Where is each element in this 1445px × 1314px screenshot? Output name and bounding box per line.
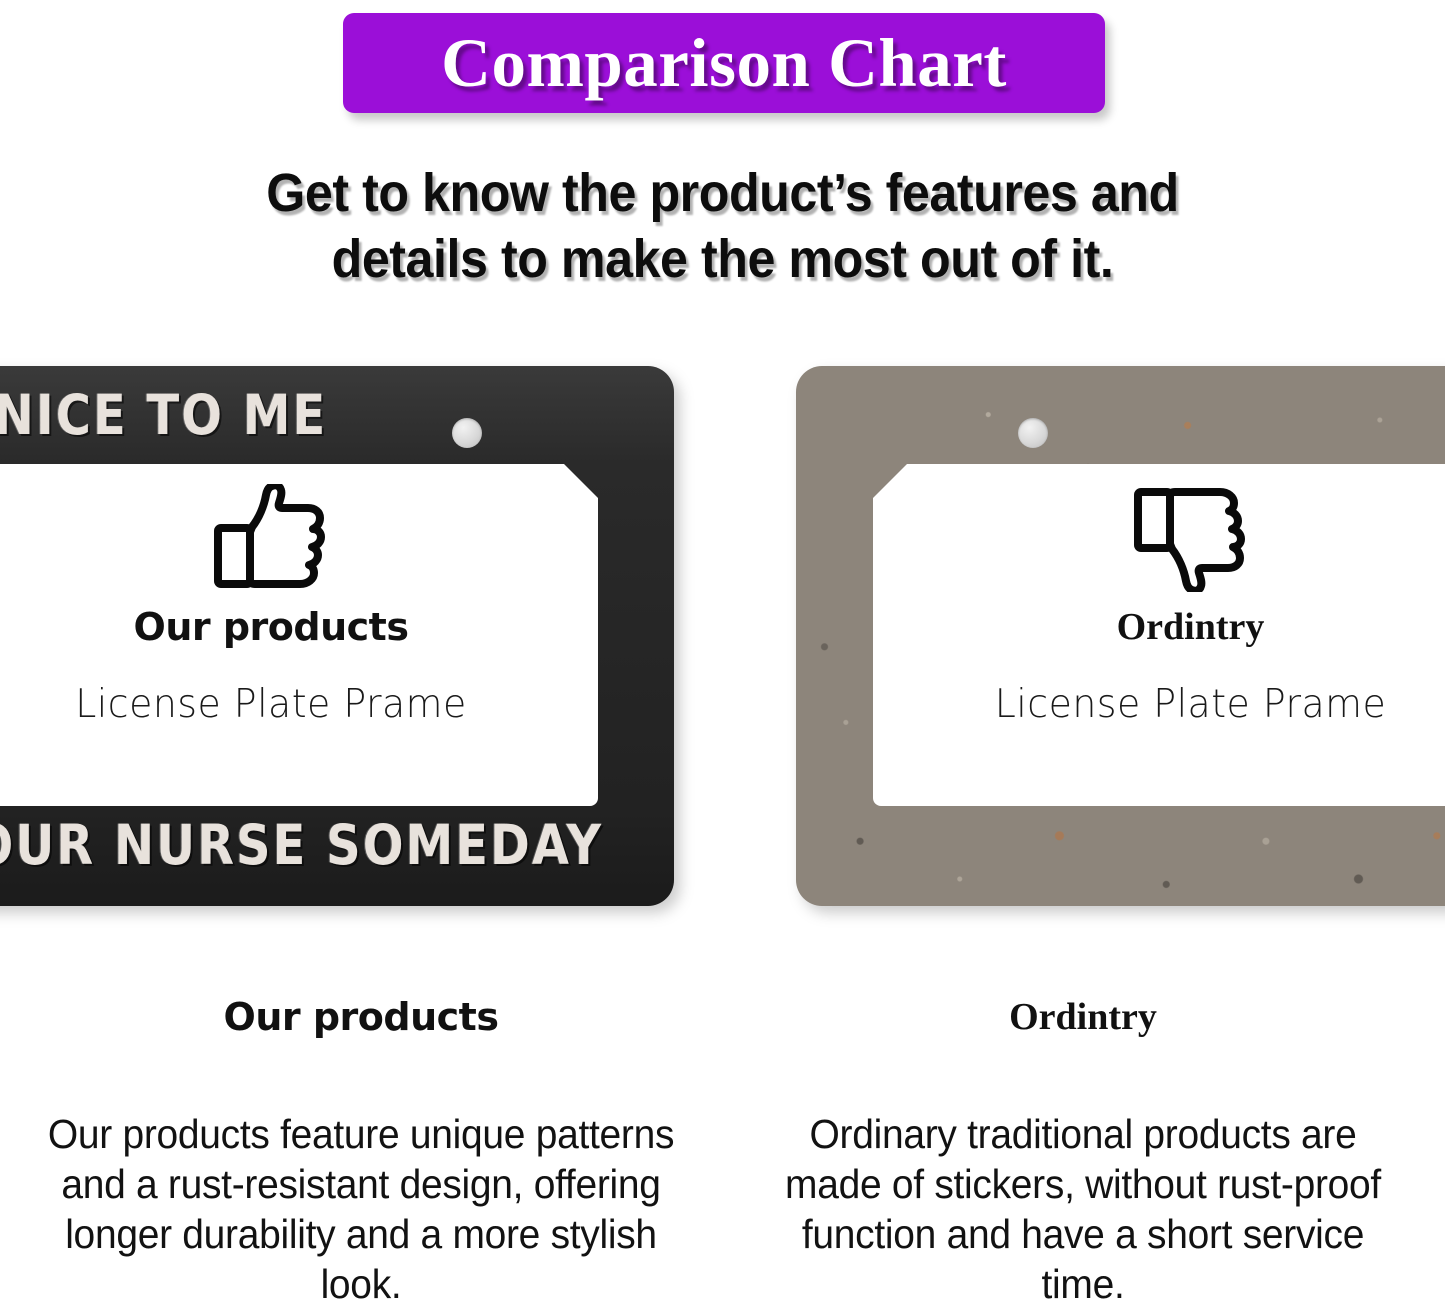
description-columns: Our products Our products feature unique… — [0, 995, 1445, 1309]
frame-product-label-ordinary: License Plate Prame — [883, 682, 1445, 727]
banner-background: Comparison Chart — [343, 13, 1105, 113]
column-heading-ordinary: Ordintry — [744, 995, 1422, 1039]
frame-product-label-ours: License Plate Prame — [0, 682, 588, 727]
column-body-ours: Our products feature unique patterns and… — [39, 1109, 683, 1309]
mounting-hole-icon — [452, 418, 482, 448]
mounting-hole-icon — [1018, 418, 1048, 448]
description-column-ours: Our products Our products feature unique… — [0, 995, 722, 1309]
frame-slogan-top: E NICE TO ME — [0, 383, 327, 448]
column-heading-ours: Our products — [22, 995, 700, 1039]
title-banner: Comparison Chart — [343, 13, 1105, 113]
plate-content-ordinary: Ordintry License Plate Prame — [873, 484, 1445, 727]
description-column-ordinary: Ordintry Ordinary traditional products a… — [722, 995, 1444, 1309]
subtitle: Get to know the product’s features and d… — [144, 160, 1302, 292]
frame-slogan-bottom: YOUR NURSE SOMEDAY — [0, 813, 603, 878]
frame-brand-label-ordinary: Ordintry — [873, 608, 1445, 648]
subtitle-line-1: Get to know the product’s features and — [144, 160, 1302, 226]
column-body-ordinary: Ordinary traditional products are made o… — [761, 1109, 1405, 1309]
product-frame-ours: E NICE TO ME YOUR NURSE SOMEDAY Our prod… — [0, 366, 674, 906]
thumbs-down-icon — [1132, 484, 1250, 592]
subtitle-line-2: details to make the most out of it. — [144, 226, 1302, 292]
plate-content-ours: Our products License Plate Prame — [0, 484, 598, 727]
frame-brand-label-ours: Our products — [0, 608, 598, 648]
product-frame-ordinary: Ordintry License Plate Prame — [796, 366, 1445, 906]
thumbs-up-icon — [212, 484, 330, 592]
page-title: Comparison Chart — [441, 24, 1007, 103]
